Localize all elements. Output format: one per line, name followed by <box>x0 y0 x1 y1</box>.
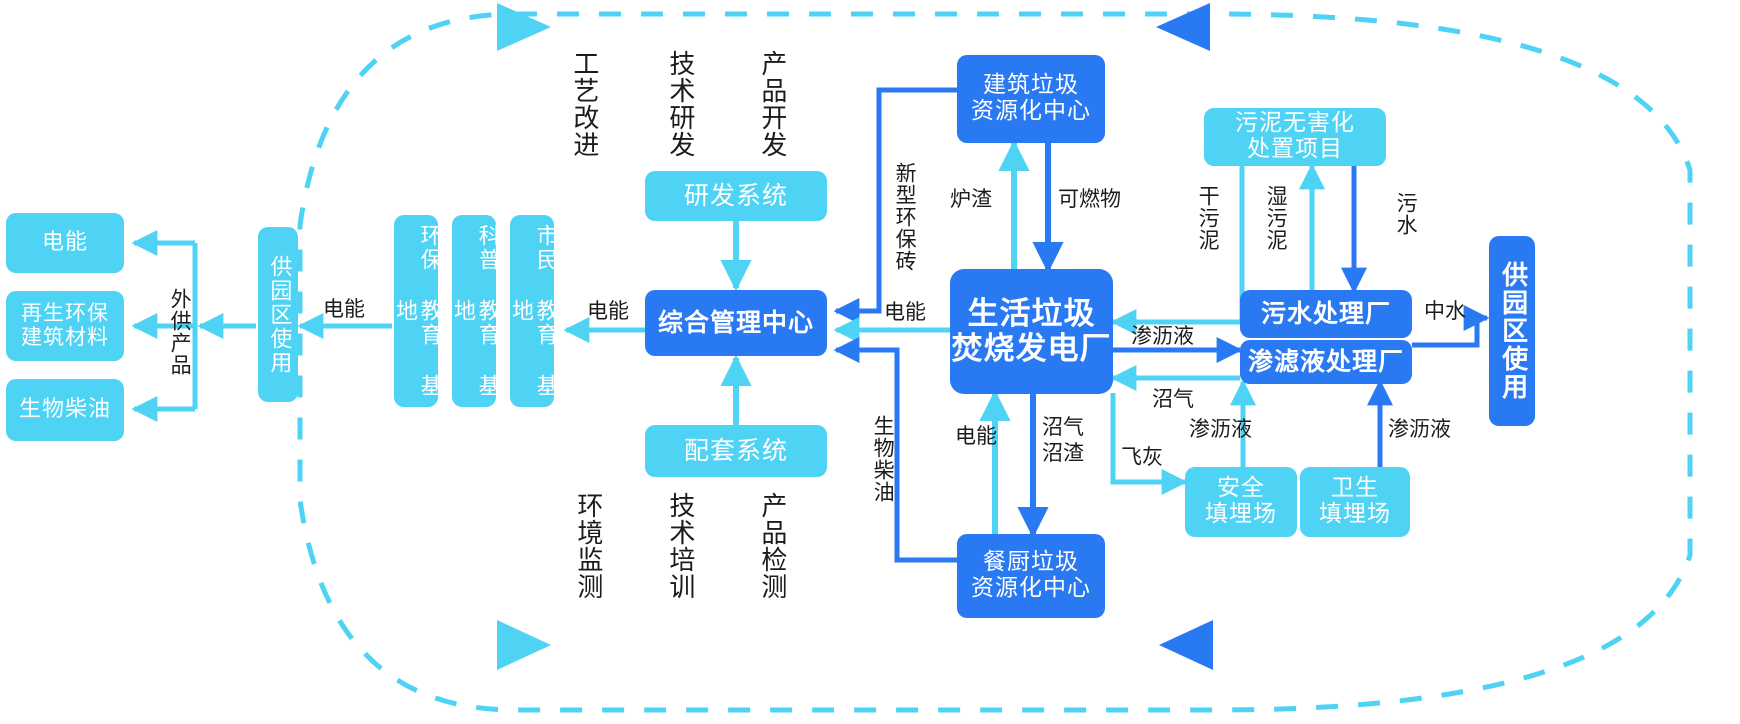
annotation-product-development: 产品开发 <box>756 50 786 158</box>
box-leachate-plant[interactable]: 渗滤液处理厂 <box>1240 340 1412 384</box>
box-label: 环保 教育 基地 <box>391 215 440 407</box>
box-label: 供园区使用 <box>266 255 291 375</box>
label-furnace-slag: 炉渣 <box>950 188 992 211</box>
annotation-technical-training: 技术培训 <box>664 492 694 600</box>
box-construction-waste-center[interactable]: 建筑垃圾 资源化中心 <box>957 55 1105 143</box>
box-label: 配套系统 <box>684 437 788 465</box>
label-dry-sludge: 干污泥 <box>1196 185 1220 251</box>
box-rd-system[interactable]: 研发系统 <box>645 171 827 221</box>
box-label: 生活垃圾 焚烧发电厂 <box>952 297 1112 366</box>
box-biodiesel[interactable]: 生物柴油 <box>6 379 124 441</box>
box-label: 渗滤液处理厂 <box>1248 348 1404 376</box>
box-recycled-building-material[interactable]: 再生环保 建筑材料 <box>6 291 124 361</box>
diagram-canvas: 电能 再生环保 建筑材料 生物柴油 供园区使用 环保 教育 基地 科普 教育 基… <box>0 0 1740 724</box>
annotation-environment-monitoring: 环境监测 <box>572 492 602 600</box>
label-power-from-kitchen: 电能 <box>955 425 997 448</box>
label-external-products: 外供产品 <box>168 288 192 376</box>
label-leachate-to-plant: 渗沥液 <box>1131 325 1194 348</box>
box-label: 再生环保 建筑材料 <box>21 302 109 349</box>
box-label: 卫生 填埋场 <box>1319 476 1391 528</box>
box-label: 市民 教育 基地 <box>507 215 556 407</box>
label-biogas-back: 沼气 <box>1152 388 1194 411</box>
box-label: 综合管理中心 <box>658 309 814 337</box>
label-new-eco-brick: 新型环保砖 <box>893 162 917 272</box>
label-power-to-mgmt-left: 电能 <box>587 300 629 323</box>
annotation-product-inspection: 产品检测 <box>756 492 786 600</box>
label-sewage: 污水 <box>1394 192 1418 236</box>
box-support-system[interactable]: 配套系统 <box>645 425 827 477</box>
annotation-process-improvement: 工艺改进 <box>568 50 598 158</box>
box-electric-power[interactable]: 电能 <box>6 213 124 273</box>
box-env-edu-base[interactable]: 环保 教育 基地 <box>394 215 438 407</box>
box-label: 科普 教育 基地 <box>449 215 498 407</box>
edge-dry-sludge-to-incinerator <box>1113 163 1242 322</box>
box-msw-incineration-plant[interactable]: 生活垃圾 焚烧发电厂 <box>950 269 1113 394</box>
box-label: 餐厨垃圾 资源化中心 <box>971 550 1091 602</box>
box-label: 建筑垃圾 资源化中心 <box>971 73 1091 125</box>
loop-arrow-bottom-left <box>497 620 551 670</box>
box-safe-landfill[interactable]: 安全 填埋场 <box>1185 467 1297 537</box>
edge-biodiesel-to-mgmt <box>836 350 958 560</box>
box-park-use-right[interactable]: 供园区使用 <box>1489 236 1535 426</box>
box-label: 电能 <box>42 231 88 256</box>
annotation-technology-rd: 技术研发 <box>664 50 694 158</box>
box-sludge-harmless-project[interactable]: 污泥无害化 处置项目 <box>1204 108 1386 166</box>
label-leachate-safe-landfill: 渗沥液 <box>1189 418 1252 441</box>
label-fly-ash: 飞灰 <box>1121 446 1163 469</box>
box-label: 研发系统 <box>684 182 788 210</box>
box-label: 安全 填埋场 <box>1205 476 1277 528</box>
loop-arrow-top-right <box>1156 3 1210 51</box>
box-sewage-plant[interactable]: 污水处理厂 <box>1240 290 1412 338</box>
loop-arrow-top-left <box>497 3 551 51</box>
label-biodiesel-flow: 生物柴油 <box>871 415 895 503</box>
box-label: 污泥无害化 处置项目 <box>1235 111 1355 163</box>
box-label: 供园区使用 <box>1497 261 1526 401</box>
label-reclaimed-water: 中水 <box>1424 300 1466 323</box>
box-sanitary-landfill[interactable]: 卫生 填埋场 <box>1300 467 1410 537</box>
box-label: 生物柴油 <box>19 398 111 423</box>
label-wet-sludge: 湿污泥 <box>1264 185 1288 251</box>
label-biogas-residue: 沼气 沼渣 <box>1042 414 1084 467</box>
box-label: 污水处理厂 <box>1261 300 1391 328</box>
box-citizen-edu-base[interactable]: 市民 教育 基地 <box>510 215 554 407</box>
box-integrated-mgmt-center[interactable]: 综合管理中心 <box>645 290 827 356</box>
box-kitchen-waste-center[interactable]: 餐厨垃圾 资源化中心 <box>957 534 1105 618</box>
box-park-use-left[interactable]: 供园区使用 <box>258 227 298 402</box>
label-power-from-incinerator: 电能 <box>884 301 926 324</box>
label-leachate-sanitary-landfill: 渗沥液 <box>1388 418 1451 441</box>
box-science-edu-base[interactable]: 科普 教育 基地 <box>452 215 496 407</box>
loop-arrow-bottom-right <box>1159 620 1213 670</box>
label-combustible: 可燃物 <box>1058 188 1121 211</box>
label-power-to-parkuse: 电能 <box>323 298 365 321</box>
